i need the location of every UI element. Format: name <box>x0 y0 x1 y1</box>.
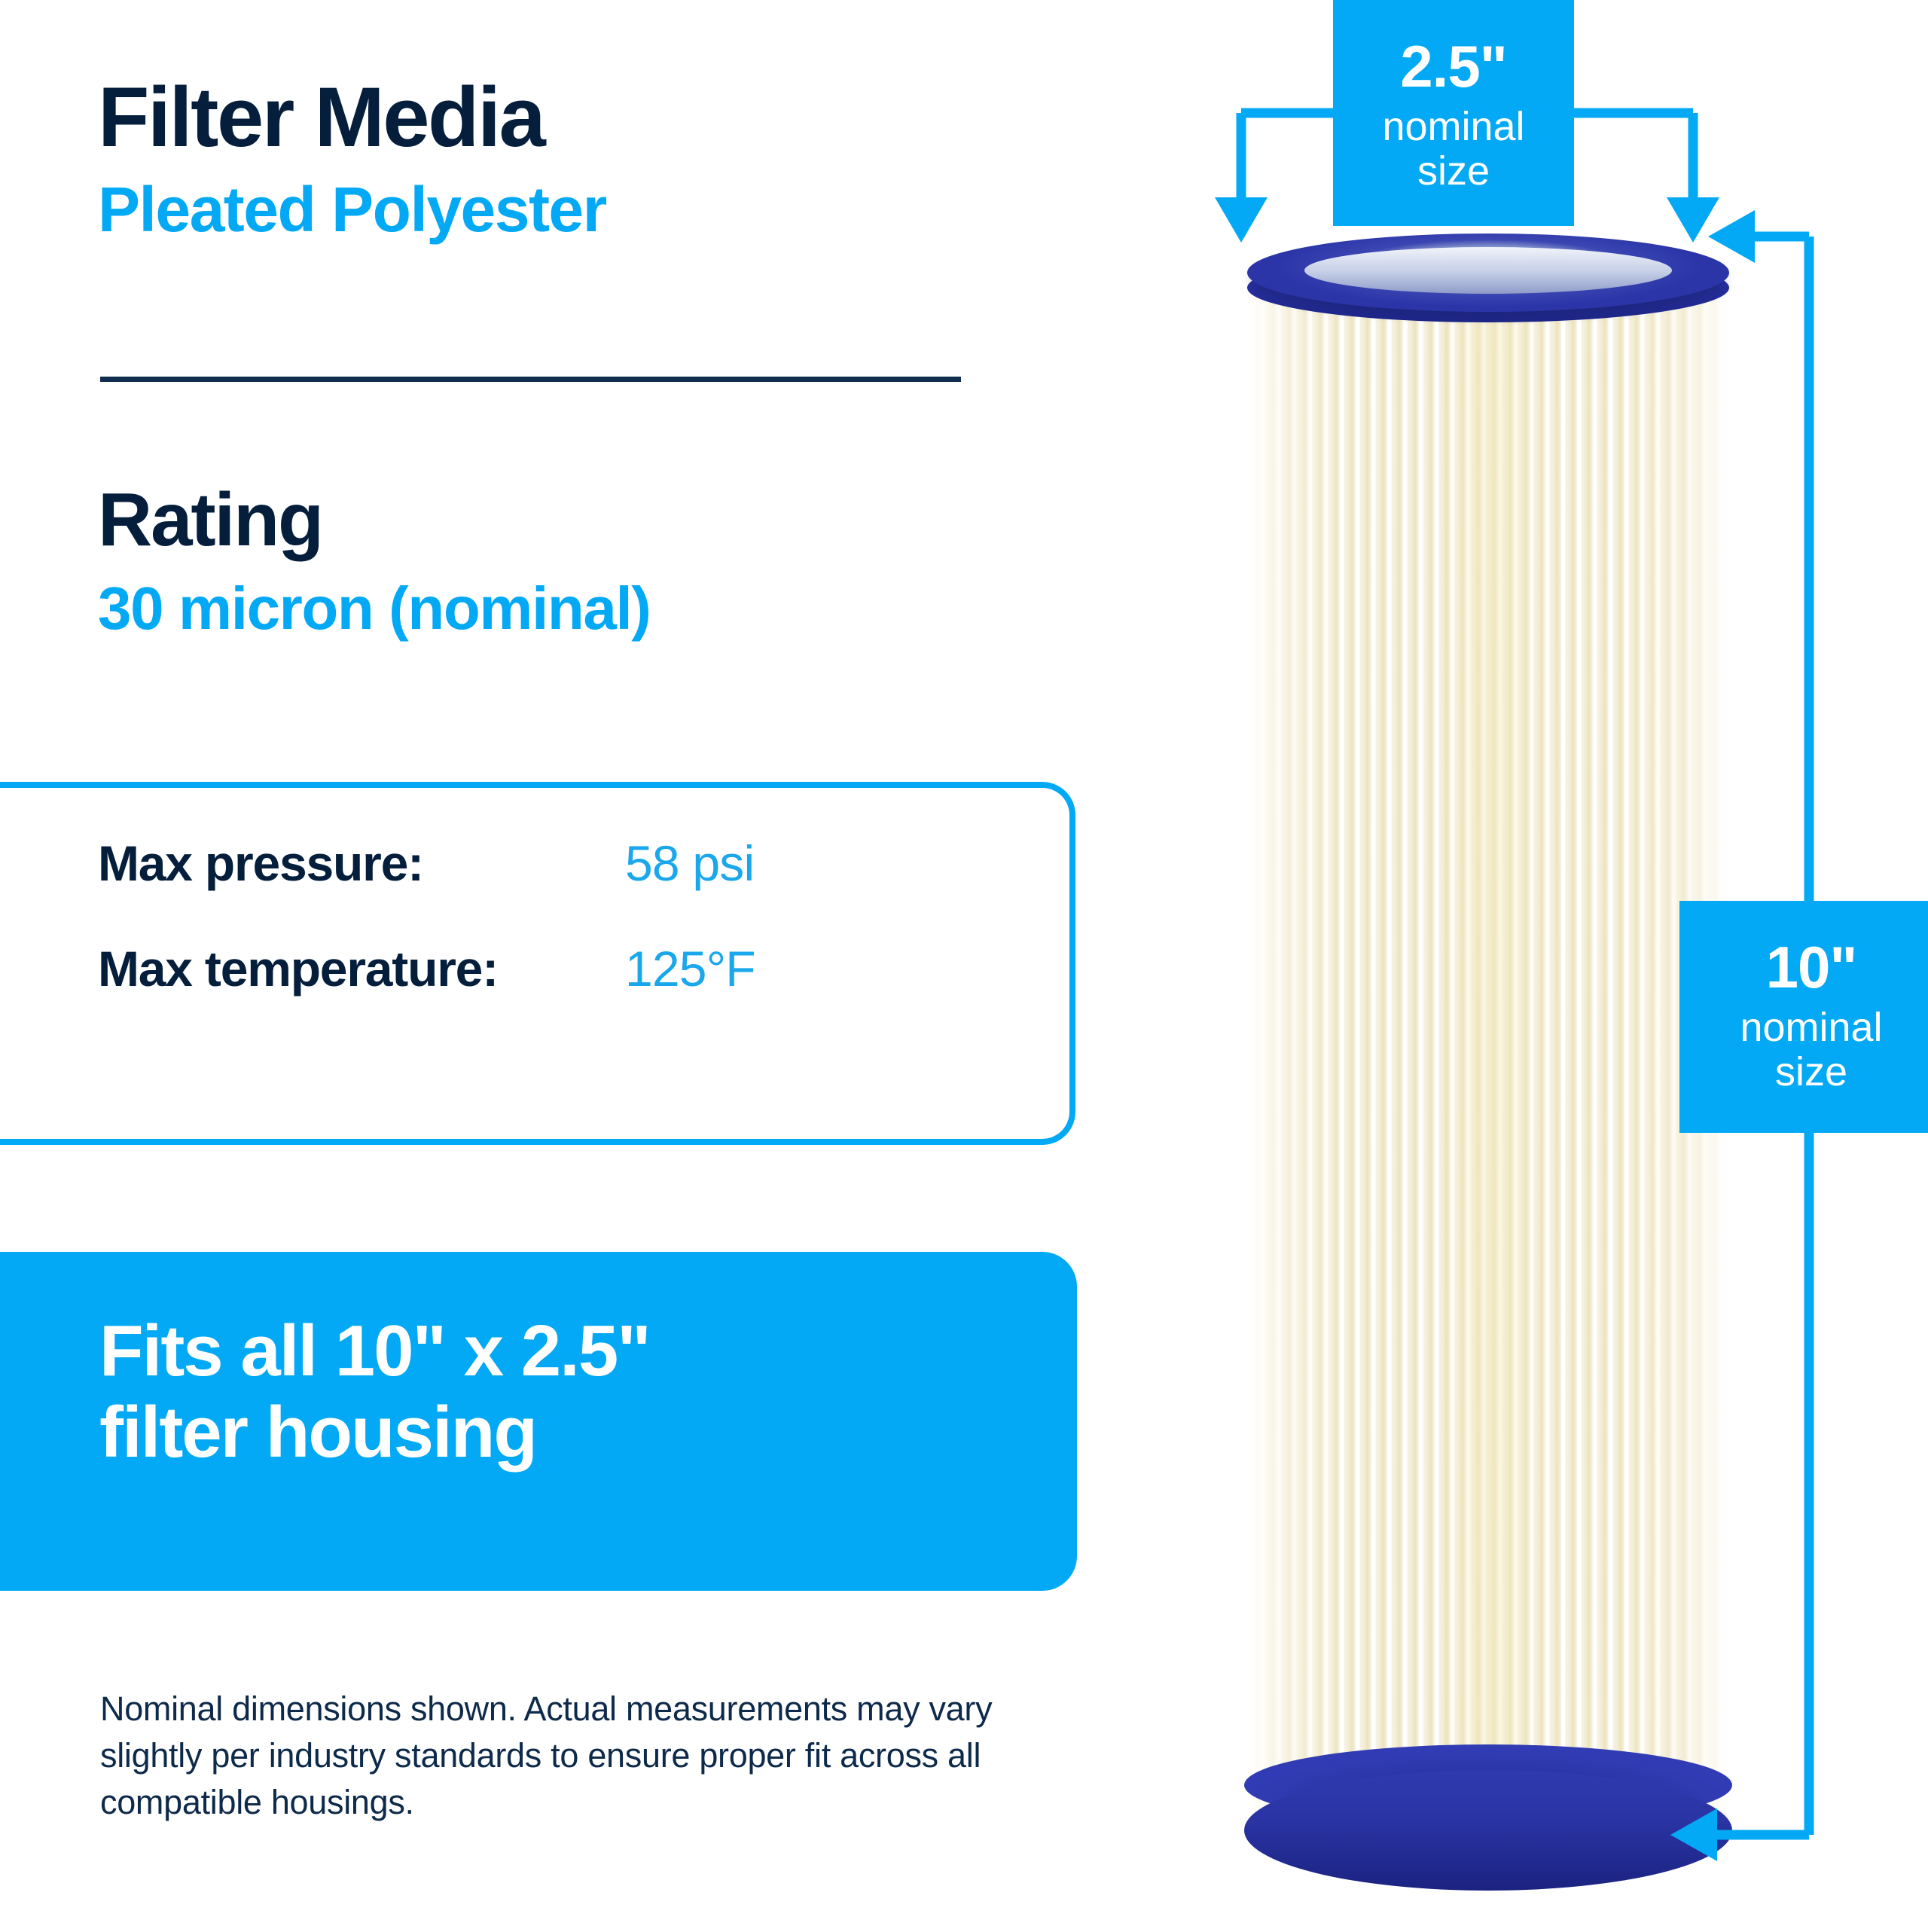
section-divider <box>100 377 961 382</box>
spec-value-max-pressure: 58 psi <box>625 835 754 892</box>
fits-housing-line-1: Fits all 10" x 2.5" <box>99 1311 988 1392</box>
cartridge-right-edge <box>1717 282 1729 1842</box>
pleat-right-shading <box>1624 282 1729 1842</box>
spec-row-max-pressure: Max pressure: 58 psi <box>98 835 994 892</box>
specifications-box: Max pressure: 58 psi Max temperature: 12… <box>0 782 1075 1145</box>
pleat-left-shading <box>1247 282 1345 1842</box>
cartridge-bottom-cap <box>1244 1770 1732 1891</box>
pleat-center-highlight <box>1440 282 1546 1842</box>
fits-housing-line-2: filter housing <box>99 1392 988 1473</box>
rating-title: Rating <box>98 482 1077 557</box>
rating-subtitle: 30 micron (nominal) <box>98 577 1077 640</box>
specifications-list: Max pressure: 58 psi Max temperature: 12… <box>98 835 994 997</box>
spec-value-max-temperature: 125°F <box>625 940 755 997</box>
spec-row-max-temperature: Max temperature: 125°F <box>98 940 994 997</box>
filter-cartridge-image <box>1247 233 1729 1891</box>
fits-housing-text: Fits all 10" x 2.5" filter housing <box>99 1311 988 1473</box>
cartridge-left-edge <box>1247 282 1258 1842</box>
filter-media-heading-block: Filter Media Pleated Polyester <box>98 75 1077 243</box>
cartridge-top-cap-inner-ring <box>1304 247 1672 294</box>
rating-heading-block: Rating 30 micron (nominal) <box>98 482 1077 640</box>
fits-housing-banner: Fits all 10" x 2.5" filter housing <box>0 1252 1077 1591</box>
spec-label-max-temperature: Max temperature: <box>98 940 625 997</box>
infographic-canvas: Filter Media Pleated Polyester Rating 30… <box>0 0 1928 1928</box>
filter-media-title: Filter Media <box>98 75 1077 160</box>
cartridge-pleated-media-body <box>1247 282 1729 1842</box>
product-image-column <box>1100 0 1928 1928</box>
spec-info-column: Filter Media Pleated Polyester Rating 30… <box>0 0 1100 1928</box>
spec-label-max-pressure: Max pressure: <box>98 835 625 892</box>
disclaimer-text: Nominal dimensions shown. Actual measure… <box>100 1686 1072 1826</box>
filter-media-subtitle: Pleated Polyester <box>98 176 1077 243</box>
